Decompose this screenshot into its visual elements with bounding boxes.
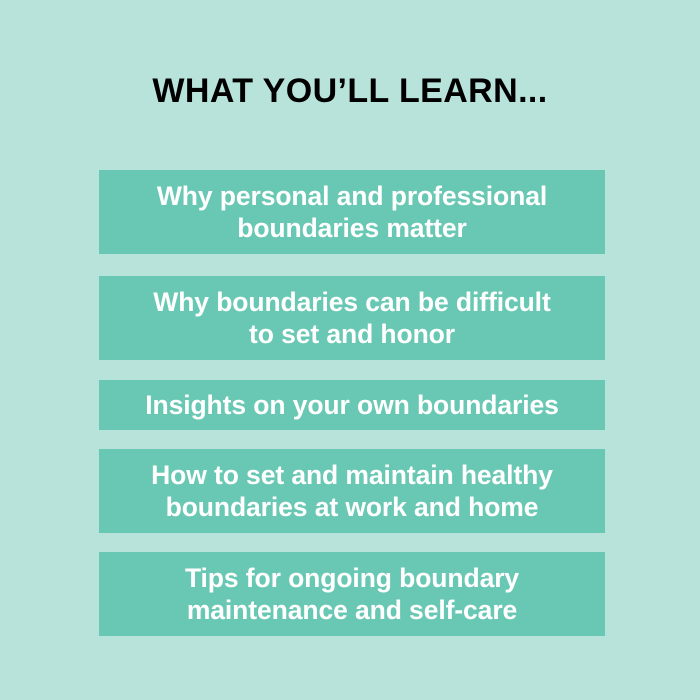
list-item-line-2: boundaries at work and home: [166, 492, 539, 522]
page-title: WHAT YOU’LL LEARN...: [0, 72, 700, 111]
bar-gap: [99, 254, 605, 276]
list-item-line-1: Why boundaries can be difficult: [153, 287, 550, 317]
list-item-line-2: boundaries matter: [237, 213, 467, 243]
bar-gap: [99, 533, 605, 552]
list-item: Tips for ongoing boundary maintenance an…: [99, 552, 605, 636]
list-item-text: How to set and maintain healthy boundari…: [109, 459, 595, 524]
list-item-text: Why boundaries can be difficult to set a…: [109, 286, 595, 351]
list-item-line-2: maintenance and self-care: [187, 595, 517, 625]
learning-outcomes-list: Why personal and professional boundaries…: [99, 170, 605, 636]
list-item-line-2: to set and honor: [249, 319, 455, 349]
list-item-line-1: Why personal and professional: [157, 181, 547, 211]
list-item: Why boundaries can be difficult to set a…: [99, 276, 605, 360]
bar-gap: [99, 360, 605, 380]
list-item: Why personal and professional boundaries…: [99, 170, 605, 254]
list-item-line-1: Tips for ongoing boundary: [185, 563, 519, 593]
list-item-text: Tips for ongoing boundary maintenance an…: [109, 562, 595, 627]
list-item: Insights on your own boundaries: [99, 380, 605, 430]
list-item: How to set and maintain healthy boundari…: [99, 449, 605, 533]
list-item-text: Insights on your own boundaries: [109, 389, 595, 421]
bar-gap: [99, 430, 605, 449]
list-item-line-1: Insights on your own boundaries: [145, 390, 559, 420]
poster-canvas: WHAT YOU’LL LEARN... Why personal and pr…: [0, 0, 700, 700]
list-item-line-1: How to set and maintain healthy: [151, 460, 553, 490]
list-item-text: Why personal and professional boundaries…: [109, 180, 595, 245]
